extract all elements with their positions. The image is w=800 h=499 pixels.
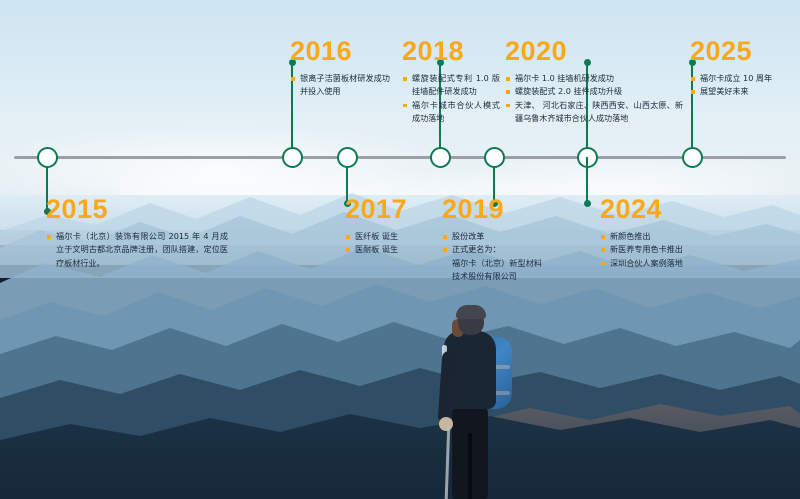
- milestone-2018[interactable]: 2018螺旋装配式专利 1.0 版挂墙配件研发成功福尔卡城市合伙人模式成功落地: [402, 38, 500, 125]
- milestone-year-label: 2015: [46, 196, 228, 223]
- milestone-item-text: 螺旋装配式专利 1.0 版挂墙配件研发成功: [412, 73, 500, 96]
- bullet-icon: [443, 235, 447, 239]
- timeline-node-ring: [484, 147, 505, 168]
- milestone-2015[interactable]: 2015福尔卡（北京）装饰有限公司 2015 年 4 月成立于文明古都北京品牌注…: [46, 196, 228, 270]
- bullet-icon: [601, 248, 605, 252]
- bullet-icon: [506, 77, 510, 81]
- milestone-year-label: 2024: [600, 196, 730, 223]
- milestone-item: 福尔卡城市合伙人模式成功落地: [402, 99, 500, 126]
- milestone-year-label: 2025: [690, 38, 794, 65]
- milestone-item: 医纤板 诞生: [345, 230, 437, 243]
- timeline-axis: [14, 156, 786, 159]
- timeline-node-ring: [430, 147, 451, 168]
- milestone-2016[interactable]: 2016银离子洁菌板材研发成功并投入使用: [290, 38, 390, 99]
- milestone-item-list: 银离子洁菌板材研发成功并投入使用: [290, 72, 390, 99]
- milestone-item: 螺旋装配式 2.0 挂件成功升级: [505, 85, 683, 98]
- milestone-item-text: 医纤板 诞生: [355, 231, 398, 241]
- milestone-2020[interactable]: 2020福尔卡 1.0 挂墙机研发成功螺旋装配式 2.0 挂件成功升级天津、 河…: [505, 38, 683, 125]
- milestone-item-text: 福尔卡（北京）新型材料技术股份有限公司: [452, 258, 542, 281]
- milestone-item: 螺旋装配式专利 1.0 版挂墙配件研发成功: [402, 72, 500, 99]
- bullet-icon: [443, 248, 447, 252]
- milestone-item-text: 螺旋装配式 2.0 挂件成功升级: [515, 86, 622, 96]
- milestone-item: 新医养专用色卡推出: [600, 243, 730, 256]
- bullet-icon: [506, 90, 510, 94]
- timeline-node-2017[interactable]: [337, 147, 358, 168]
- bullet-icon: [403, 104, 407, 108]
- hiker-beanie: [456, 305, 486, 319]
- milestone-item-text: 新医养专用色卡推出: [610, 244, 683, 254]
- hiker-leg-gap: [468, 433, 472, 499]
- timeline-node-ring: [37, 147, 58, 168]
- bullet-icon: [403, 77, 407, 81]
- hiker-hand: [439, 417, 453, 431]
- milestone-item: 深圳合伙人案例落地: [600, 257, 730, 270]
- milestone-2024[interactable]: 2024新颜色推出新医养专用色卡推出深圳合伙人案例落地: [600, 196, 730, 270]
- milestone-item-text: 股份改革: [452, 231, 484, 241]
- milestone-item-text: 天津、 河北石家庄、陕西西安、山西太原、新疆乌鲁木齐城市合伙人成功落地: [515, 100, 683, 123]
- timeline-stem-dot-2024: [584, 200, 591, 207]
- milestone-item: 天津、 河北石家庄、陕西西安、山西太原、新疆乌鲁木齐城市合伙人成功落地: [505, 99, 683, 126]
- bullet-icon: [691, 77, 695, 81]
- milestone-item: 股份改革: [442, 230, 542, 243]
- milestone-item: 医耐板 诞生: [345, 243, 437, 256]
- timeline-node-ring: [282, 147, 303, 168]
- milestone-item-text: 新颜色推出: [610, 231, 650, 241]
- milestone-item: 福尔卡成立 10 周年: [690, 72, 794, 85]
- timeline-node-2018[interactable]: [430, 147, 451, 168]
- milestone-year-label: 2020: [505, 38, 683, 65]
- milestone-item-text: 深圳合伙人案例落地: [610, 258, 683, 268]
- bullet-icon: [346, 248, 350, 252]
- bullet-icon: [47, 235, 51, 239]
- bullet-icon: [601, 235, 605, 239]
- milestone-item: 福尔卡（北京）装饰有限公司 2015 年 4 月成立于文明古都北京品牌注册，团队…: [46, 230, 228, 270]
- timeline-node-ring: [337, 147, 358, 168]
- milestone-year-label: 2016: [290, 38, 390, 65]
- milestone-item-list: 福尔卡 1.0 挂墙机研发成功螺旋装配式 2.0 挂件成功升级天津、 河北石家庄…: [505, 72, 683, 125]
- milestone-item-text: 福尔卡城市合伙人模式成功落地: [412, 100, 500, 123]
- timeline-node-2016[interactable]: [282, 147, 303, 168]
- trekking-pole: [445, 425, 451, 499]
- milestone-2017[interactable]: 2017医纤板 诞生医耐板 诞生: [345, 196, 437, 257]
- milestone-item: 银离子洁菌板材研发成功并投入使用: [290, 72, 390, 99]
- timeline-node-2025[interactable]: [682, 147, 703, 168]
- milestone-2025[interactable]: 2025福尔卡成立 10 周年展望美好未来: [690, 38, 794, 99]
- milestone-item: 展望美好未来: [690, 85, 794, 98]
- milestone-item-text: 福尔卡成立 10 周年: [700, 73, 772, 83]
- bullet-icon: [291, 77, 295, 81]
- timeline-node-ring: [682, 147, 703, 168]
- milestone-item: 福尔卡（北京）新型材料技术股份有限公司: [442, 257, 542, 284]
- milestone-item-list: 福尔卡成立 10 周年展望美好未来: [690, 72, 794, 99]
- timeline-node-2019[interactable]: [484, 147, 505, 168]
- bullet-icon: [506, 104, 510, 108]
- bullet-icon: [691, 90, 695, 94]
- milestone-item-text: 福尔卡（北京）装饰有限公司 2015 年 4 月成立于文明古都北京品牌注册，团队…: [56, 231, 228, 268]
- milestone-item-text: 正式更名为：: [452, 244, 501, 254]
- timeline-node-2015[interactable]: [37, 147, 58, 168]
- milestone-item: 福尔卡 1.0 挂墙机研发成功: [505, 72, 683, 85]
- timeline-infographic: 2015福尔卡（北京）装饰有限公司 2015 年 4 月成立于文明古都北京品牌注…: [0, 0, 800, 499]
- milestone-year-label: 2017: [345, 196, 437, 223]
- milestone-item-list: 股份改革正式更名为：福尔卡（北京）新型材料技术股份有限公司: [442, 230, 542, 283]
- milestone-year-label: 2018: [402, 38, 500, 65]
- milestone-item-list: 医纤板 诞生医耐板 诞生: [345, 230, 437, 257]
- bullet-icon: [601, 262, 605, 266]
- milestone-item-list: 新颜色推出新医养专用色卡推出深圳合伙人案例落地: [600, 230, 730, 270]
- milestone-year-label: 2019: [442, 196, 542, 223]
- milestone-item-text: 医耐板 诞生: [355, 244, 398, 254]
- milestone-item-list: 福尔卡（北京）装饰有限公司 2015 年 4 月成立于文明古都北京品牌注册，团队…: [46, 230, 228, 270]
- milestone-item: 新颜色推出: [600, 230, 730, 243]
- hiker-silhouette: [430, 305, 550, 499]
- milestone-item-text: 银离子洁菌板材研发成功并投入使用: [300, 73, 390, 96]
- milestone-item-text: 福尔卡 1.0 挂墙机研发成功: [515, 73, 614, 83]
- timeline-stem-2024: [586, 157, 589, 204]
- milestone-2019[interactable]: 2019股份改革正式更名为：福尔卡（北京）新型材料技术股份有限公司: [442, 196, 542, 283]
- milestone-item-list: 螺旋装配式专利 1.0 版挂墙配件研发成功福尔卡城市合伙人模式成功落地: [402, 72, 500, 125]
- milestone-item-text: 展望美好未来: [700, 86, 749, 96]
- bullet-icon: [346, 235, 350, 239]
- milestone-item: 正式更名为：: [442, 243, 542, 256]
